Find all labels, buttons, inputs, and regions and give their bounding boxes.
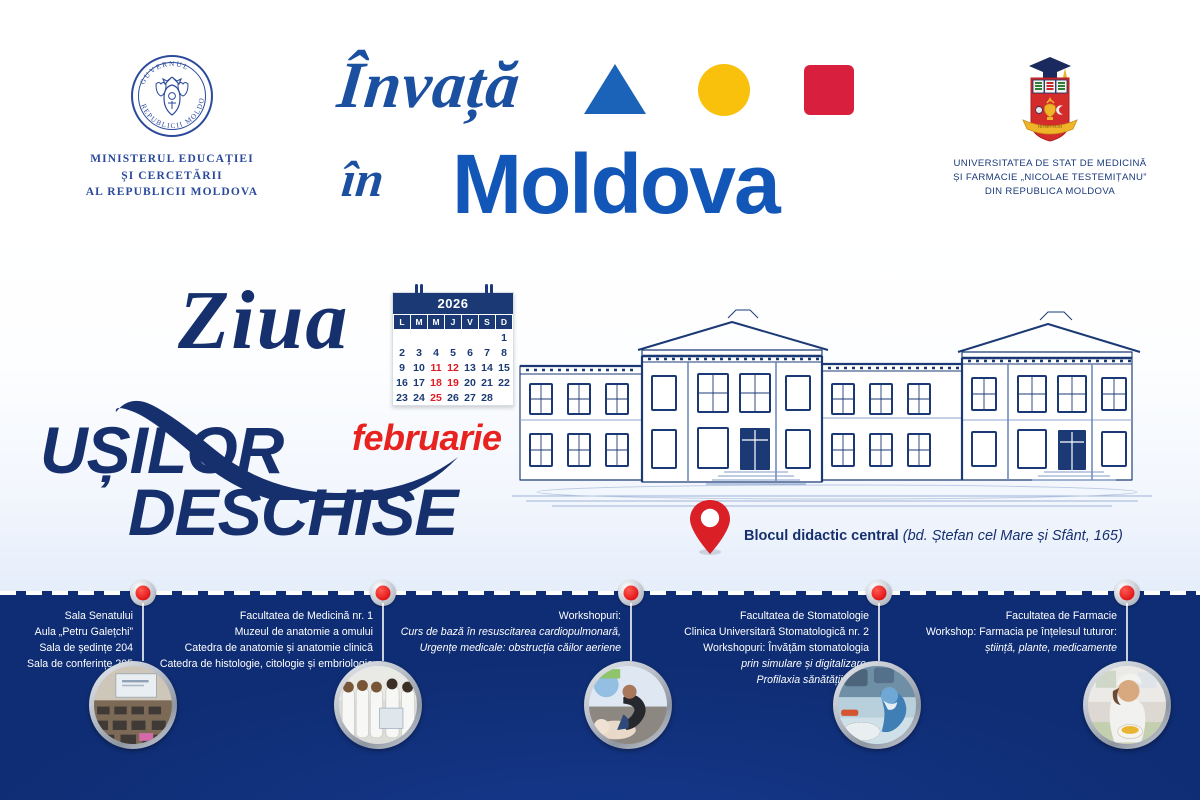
brand-lockup: Învață în Moldova bbox=[320, 42, 890, 222]
university-line-3: DIN REPUBLICA MOLDOVA bbox=[930, 185, 1170, 199]
calendar-day-16[interactable]: 16 bbox=[394, 375, 411, 390]
calendar-day-empty bbox=[394, 330, 411, 346]
location-text: Blocul didactic central (bd. Ștefan cel … bbox=[744, 528, 1123, 544]
calendar-day-18[interactable]: 18 bbox=[428, 375, 445, 390]
calendar-day-5[interactable]: 5 bbox=[445, 345, 462, 360]
calendar-weekday-0: L bbox=[394, 315, 411, 330]
svg-text:GUVERNUL: GUVERNUL bbox=[139, 60, 191, 86]
brand-word-moldova: Moldova bbox=[452, 142, 779, 226]
calendar-day-25[interactable]: 25 bbox=[428, 390, 445, 405]
timeline-item-text: Facultatea de FarmacieWorkshop: Farmacia… bbox=[926, 609, 1117, 657]
map-pin-icon bbox=[688, 498, 732, 556]
calendar-day-empty bbox=[445, 330, 462, 346]
calendar-day-4[interactable]: 4 bbox=[428, 345, 445, 360]
calendar-day-9[interactable]: 9 bbox=[394, 360, 411, 375]
timeline-text-line-2: Workshop: Farmacia pe înțelesul tuturor: bbox=[926, 625, 1117, 641]
timeline-text-line-1: Facultatea de Farmacie bbox=[926, 609, 1117, 625]
location-block: Blocul didactic central (bd. Ștefan cel … bbox=[688, 498, 1158, 560]
calendar-day-23[interactable]: 23 bbox=[394, 390, 411, 405]
square-shape-icon bbox=[804, 65, 854, 115]
calendar-day-12[interactable]: 12 bbox=[445, 360, 462, 375]
timeline-text-line-3: știință, plante, medicamente bbox=[926, 641, 1117, 657]
month-label: februarie bbox=[352, 417, 502, 459]
calendar-day-2[interactable]: 2 bbox=[394, 345, 411, 360]
photo-inner bbox=[1088, 666, 1166, 744]
calendar-rings-icon bbox=[393, 284, 513, 296]
triangle-shape-icon bbox=[584, 64, 646, 114]
seal-ring-text: GUVERNUL REPUBLICII MOLDOVA bbox=[131, 55, 213, 137]
photo-pharmacy-lab[interactable] bbox=[1083, 661, 1171, 749]
calendar-day-empty bbox=[462, 330, 479, 346]
ministry-line-3: AL REPUBLICII MOLDOVA bbox=[52, 184, 292, 201]
calendar-day-10[interactable]: 10 bbox=[411, 360, 428, 375]
calendar-day-6[interactable]: 6 bbox=[462, 345, 479, 360]
ministry-line-2: ȘI CERCETĂRII bbox=[52, 168, 292, 185]
calendar-day-17[interactable]: 17 bbox=[411, 375, 428, 390]
ministry-line-1: MINISTERUL EDUCAȚIEI bbox=[52, 151, 292, 168]
university-crest-icon: HOMO SUM bbox=[1013, 50, 1087, 142]
brand-word-invata: Învață bbox=[334, 48, 524, 124]
university-logo-block: HOMO SUM UNIVERSITATEA DE STAT DE MEDICI… bbox=[930, 50, 1170, 199]
usmf-building-illustration bbox=[492, 300, 1182, 515]
timeline-item: Facultatea de FarmacieWorkshop: Farmacia… bbox=[0, 591, 1200, 800]
poster-root: GUVERNUL REPUBLICII MOLDOVA MINISTERUL E… bbox=[0, 0, 1200, 800]
timeline-stem bbox=[1126, 603, 1128, 661]
calendar-day-27[interactable]: 27 bbox=[462, 390, 479, 405]
university-line-1: UNIVERSITATEA DE STAT DE MEDICINĂ bbox=[930, 157, 1170, 171]
timeline-marker-core bbox=[1120, 586, 1135, 601]
calendar-day-empty bbox=[411, 330, 428, 346]
calendar-weekday-4: V bbox=[462, 315, 479, 330]
ministry-logo-block: GUVERNUL REPUBLICII MOLDOVA MINISTERUL E… bbox=[52, 55, 292, 201]
location-address: (bd. Ștefan cel Mare și Sfânt, 165) bbox=[903, 528, 1123, 544]
brand-word-in: în bbox=[339, 150, 387, 208]
calendar-weekday-3: J bbox=[445, 315, 462, 330]
university-line-2: ȘI FARMACIE „NICOLAE TESTEMIȚANU” bbox=[930, 171, 1170, 185]
calendar-day-11[interactable]: 11 bbox=[428, 360, 445, 375]
svg-text:HOMO SUM: HOMO SUM bbox=[1038, 124, 1062, 129]
circle-shape-icon bbox=[698, 64, 750, 116]
calendar-weekday-2: M bbox=[428, 315, 445, 330]
government-seal-icon: GUVERNUL REPUBLICII MOLDOVA bbox=[131, 55, 213, 137]
calendar-day-empty bbox=[428, 330, 445, 346]
calendar-day-26[interactable]: 26 bbox=[445, 390, 462, 405]
calendar-weekday-1: M bbox=[411, 315, 428, 330]
calendar-day-20[interactable]: 20 bbox=[462, 375, 479, 390]
calendar-day-24[interactable]: 24 bbox=[411, 390, 428, 405]
title-deschise: DESCHISE bbox=[128, 474, 457, 550]
location-name: Blocul didactic central bbox=[744, 528, 899, 544]
header: GUVERNUL REPUBLICII MOLDOVA MINISTERUL E… bbox=[0, 0, 1200, 235]
calendar-day-19[interactable]: 19 bbox=[445, 375, 462, 390]
calendar-day-13[interactable]: 13 bbox=[462, 360, 479, 375]
title-ziua: Ziua bbox=[178, 272, 349, 369]
calendar-day-3[interactable]: 3 bbox=[411, 345, 428, 360]
